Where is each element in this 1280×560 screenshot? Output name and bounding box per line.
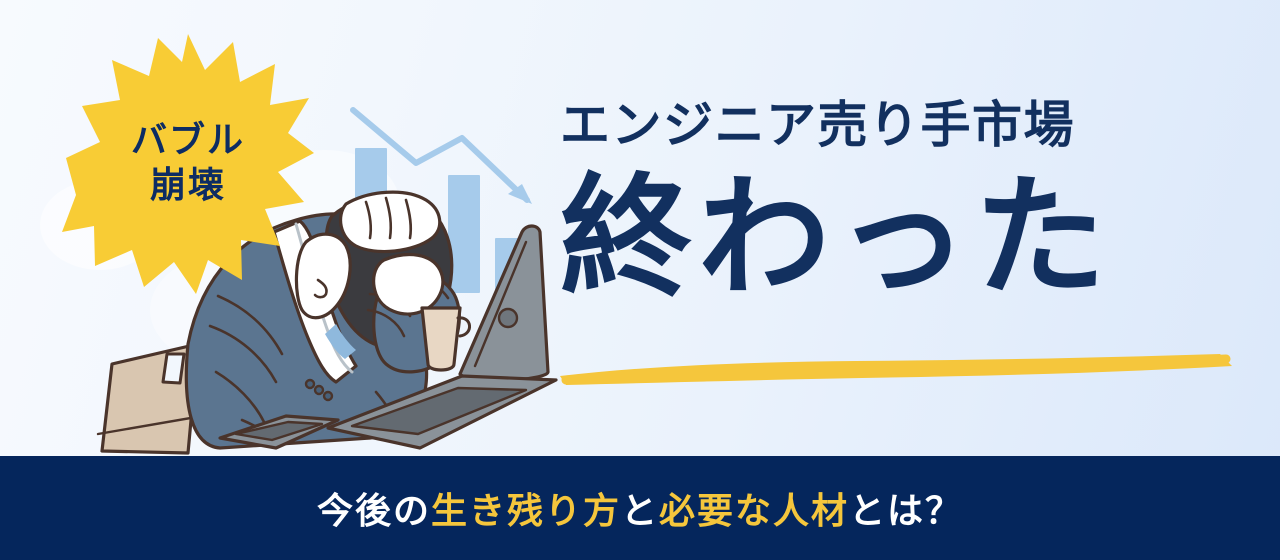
yellow-brush-underline-icon (556, 352, 1236, 386)
footer-segment-highlight: 必要な人材 (659, 490, 849, 531)
headline-kicker: エンジニア売り手市場 (560, 100, 1260, 150)
footer-text: 今後の生き残り方と必要な人材とは？ (317, 482, 963, 534)
footer-segment: とは？ (849, 490, 963, 531)
footer-segment: と (621, 490, 659, 531)
starburst-shape (62, 34, 314, 294)
footer-bar: 今後の生き残り方と必要な人材とは？ (0, 456, 1280, 560)
footer-segment-highlight: 生き残り方 (431, 490, 621, 531)
starburst-badge (62, 32, 314, 294)
footer-segment: 今後の (317, 490, 431, 531)
headline-main: 終わった (560, 172, 1260, 304)
headline-block: エンジニア売り手市場 終わった (560, 100, 1260, 304)
banner: バブル 崩壊 エンジニア売り手市場 終わった 今後の生き残り方と必要な人材とは？ (0, 0, 1280, 560)
